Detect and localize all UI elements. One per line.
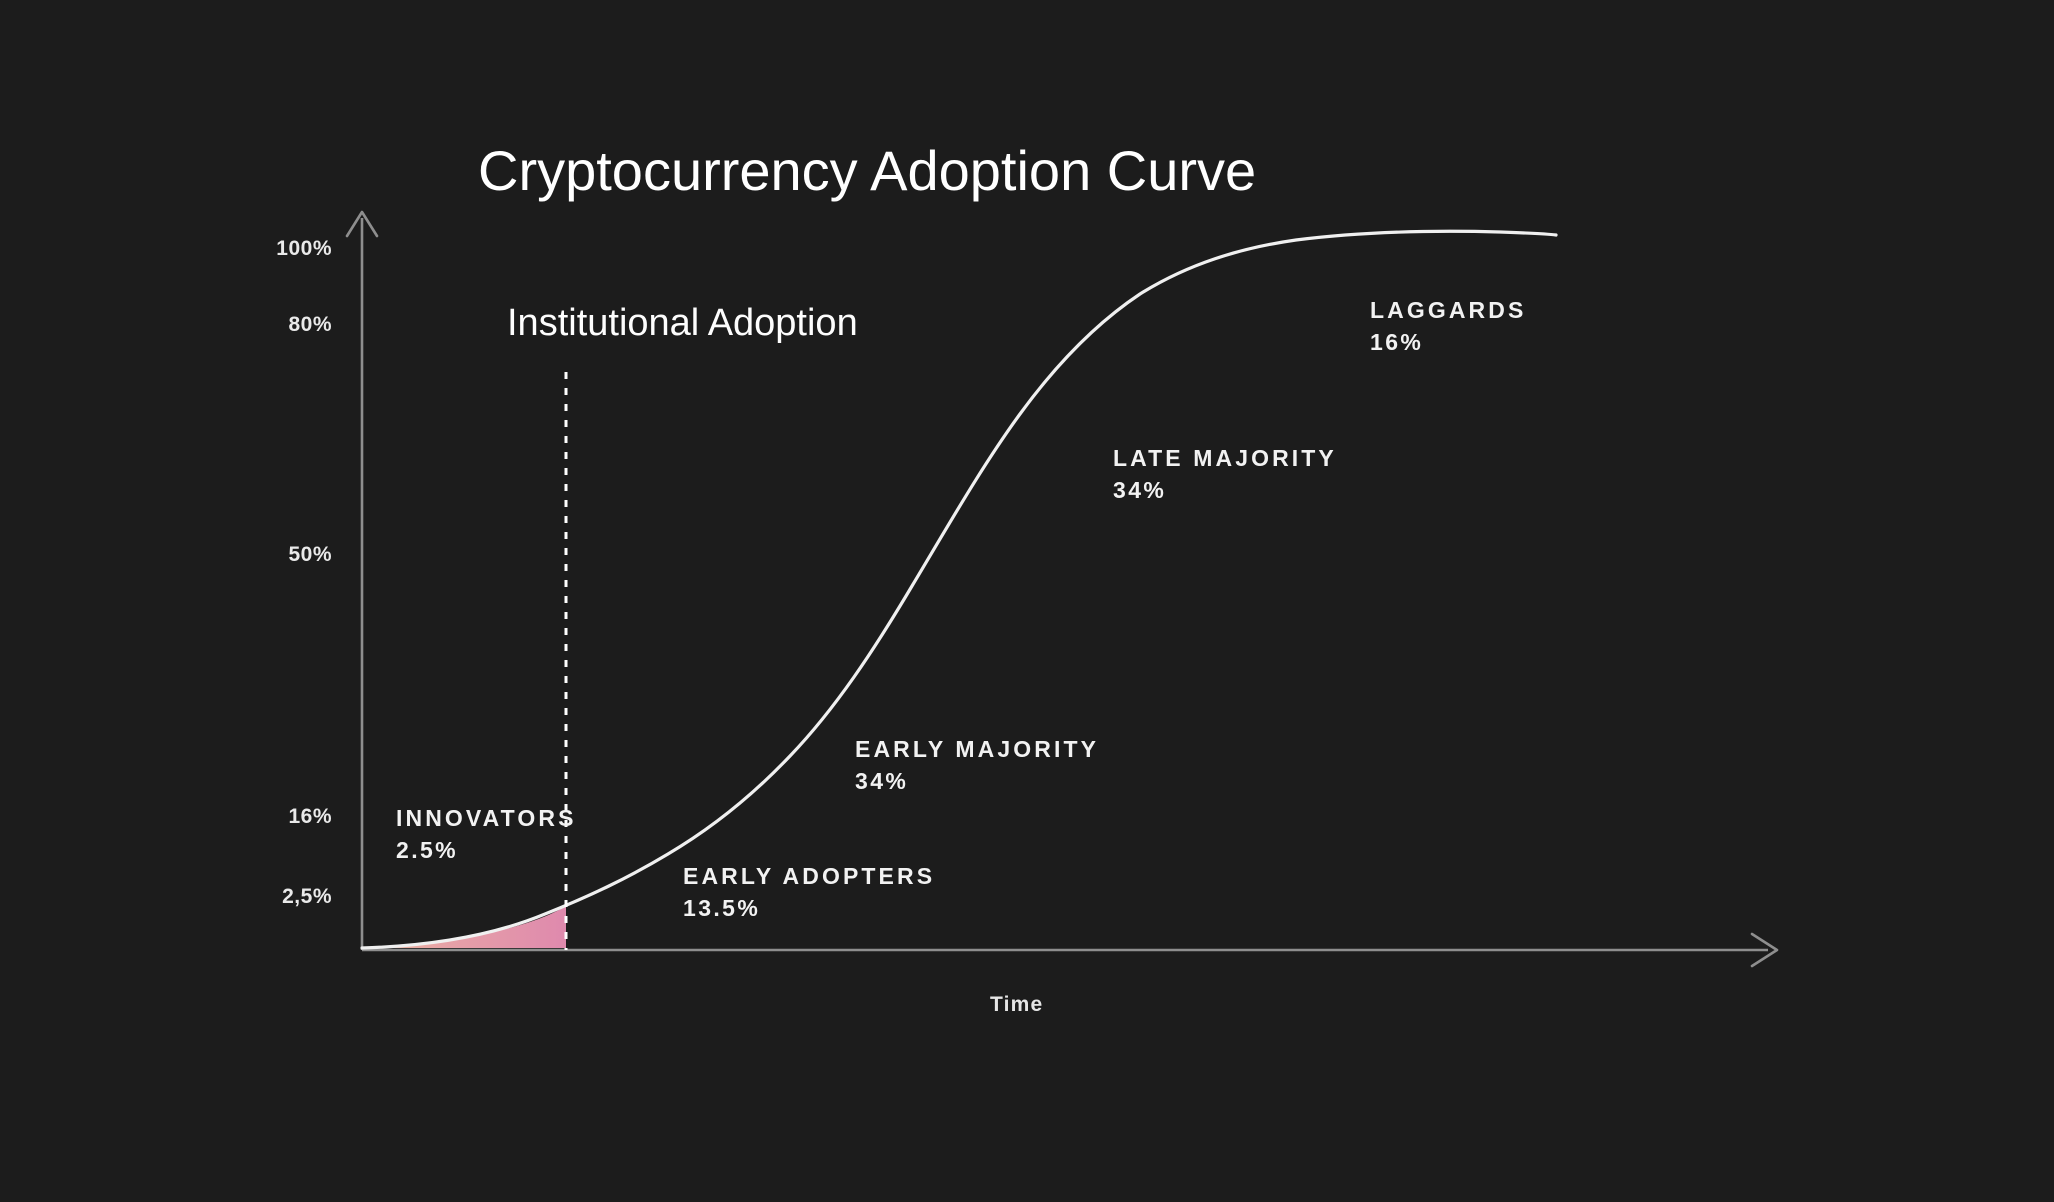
page-title: Cryptocurrency Adoption Curve [478, 138, 1256, 203]
institutional-adoption-label: Institutional Adoption [507, 302, 858, 345]
segment-percent-early-adopters: 13.5% [683, 895, 935, 922]
segment-label-late-majority: LATE MAJORITY 34% [1113, 445, 1337, 504]
segment-name-late-majority: LATE MAJORITY [1113, 445, 1337, 472]
y-axis [347, 212, 377, 950]
y-tick-label-2-5: 2,5% [222, 885, 332, 909]
x-axis-title: Time [990, 993, 1043, 1017]
y-tick-label-16: 16% [222, 805, 332, 829]
segment-label-innovators: INNOVATORS 2.5% [396, 805, 577, 864]
innovators-early-fill [362, 906, 566, 948]
y-tick-label-50: 50% [222, 543, 332, 567]
segment-label-laggards: LAGGARDS 16% [1370, 297, 1526, 356]
chart-canvas: Cryptocurrency Adoption Curve Institutio… [0, 0, 2054, 1202]
segment-percent-innovators: 2.5% [396, 837, 577, 864]
y-tick-label-80: 80% [222, 313, 332, 337]
segment-name-laggards: LAGGARDS [1370, 297, 1526, 324]
segment-name-early-majority: EARLY MAJORITY [855, 736, 1099, 763]
segment-name-early-adopters: EARLY ADOPTERS [683, 863, 935, 890]
segment-percent-laggards: 16% [1370, 329, 1526, 356]
segment-label-early-majority: EARLY MAJORITY 34% [855, 736, 1099, 795]
segment-name-innovators: INNOVATORS [396, 805, 577, 832]
x-axis [362, 934, 1777, 966]
segment-percent-late-majority: 34% [1113, 477, 1337, 504]
y-tick-label-100: 100% [222, 237, 332, 261]
segment-label-early-adopters: EARLY ADOPTERS 13.5% [683, 863, 935, 922]
segment-percent-early-majority: 34% [855, 768, 1099, 795]
